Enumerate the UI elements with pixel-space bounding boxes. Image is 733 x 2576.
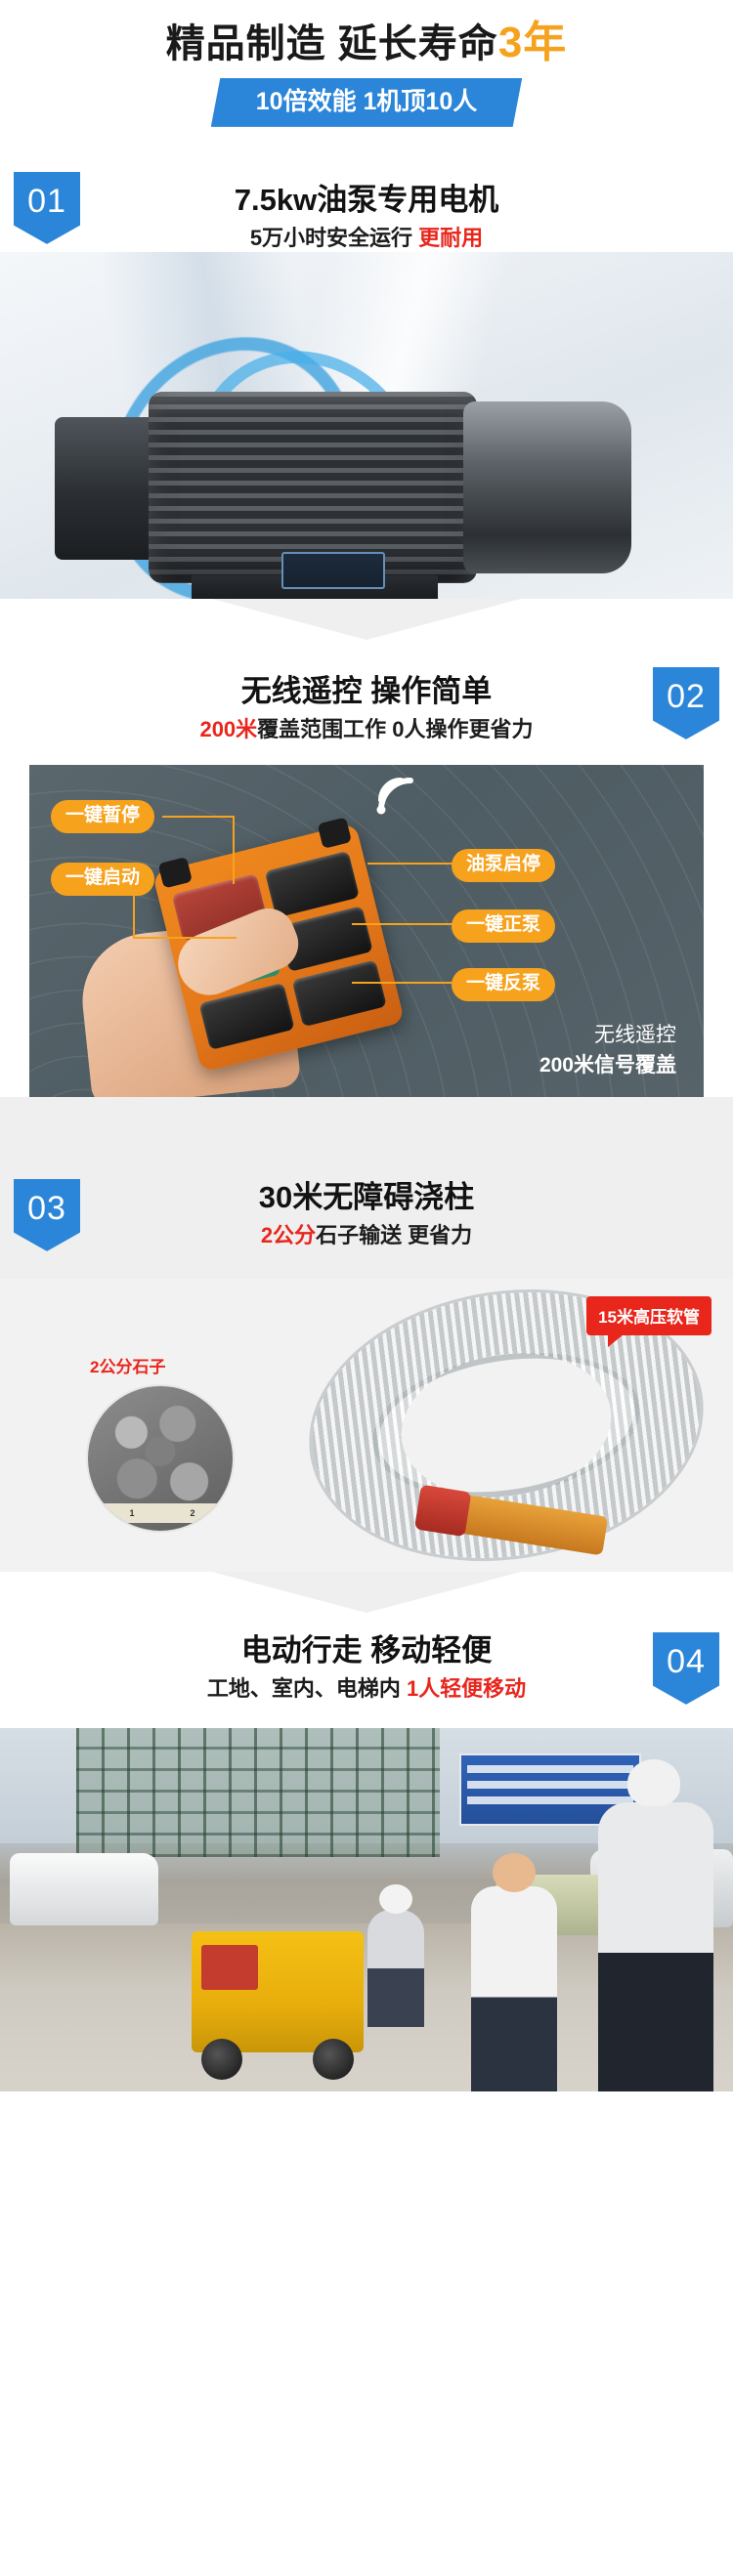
section-03: 03 30米无障碍浇柱 2公分石子输送 更省力 2公分石子 1 2 15米高压软…: [0, 1179, 733, 1572]
page-title-highlight: 3年: [498, 19, 567, 66]
remote-key-reverse-pump[interactable]: [291, 960, 387, 1028]
section-04-subtitle-main: 工地、室内、电梯内: [207, 1676, 407, 1701]
page-header: 精品制造 延长寿命3年 10倍效能 1机顶10人: [0, 0, 733, 127]
section-04: 04 电动行走 移动轻便 工地、室内、电梯内 1人轻便移动: [0, 1632, 733, 2091]
section-03-title: 30米无障碍浇柱: [0, 1179, 733, 1217]
motor-end-cap: [463, 401, 631, 573]
hose-length-tag: 15米高压软管: [586, 1296, 711, 1335]
site-scaffolding: [76, 1728, 440, 1857]
remote-caption-line2: 200米信号覆盖: [539, 1050, 676, 1081]
section-04-head: 04 电动行走 移动轻便 工地、室内、电梯内 1人轻便移动: [0, 1632, 733, 1728]
section-03-spacer: [0, 1140, 733, 1179]
ruler-mark-1: 1: [129, 1508, 134, 1518]
remote-screw-left-icon: [158, 857, 193, 888]
oil-pump-motor-photo: [0, 252, 733, 599]
section-divider-3: [0, 1572, 733, 1615]
wifi-signal-icon: [373, 773, 422, 816]
callout-start-leader: [133, 937, 237, 939]
page-title: 精品制造 延长寿命3年: [0, 18, 733, 68]
callout-pump-leader: [367, 863, 453, 865]
section-03-subtitle-main: 石子输送 更省力: [316, 1223, 472, 1247]
site-worker-foreground: [598, 1802, 713, 2091]
callout-pause-leader: [162, 816, 235, 818]
section-divider-2: [0, 1097, 733, 1140]
hose-and-gravel-photo: 2公分石子 1 2 15米高压软管: [0, 1279, 733, 1572]
callout-reverse-leader: [352, 982, 453, 984]
site-white-van: [10, 1853, 158, 1925]
callout-start: 一键启动: [51, 863, 154, 896]
section-01-subtitle-main: 5万小时安全运行: [250, 226, 418, 250]
gravel-sample-photo: 1 2: [86, 1384, 235, 1533]
section-01-title: 7.5kw油泵专用电机: [0, 176, 733, 220]
section-02-title: 无线遥控 操作简单: [0, 673, 733, 711]
callout-start-leader-v: [133, 880, 135, 939]
motor-illustration: [55, 392, 651, 583]
section-divider-1: [0, 599, 733, 642]
callout-pump-startstop: 油泵启停: [452, 849, 555, 882]
section-01-subtitle-red: 更耐用: [418, 226, 483, 250]
remote-key-pump-startstop[interactable]: [264, 851, 360, 918]
callout-reverse-pump: 一键反泵: [452, 968, 555, 1001]
section-02: 02 无线遥控 操作简单 200米覆盖范围工作 0人操作更省力: [0, 663, 733, 1097]
callout-forward-pump: 一键正泵: [452, 909, 555, 943]
section-03-subtitle: 2公分石子输送 更省力: [0, 1222, 733, 1250]
site-worker-walking: [471, 1886, 557, 2091]
section-02-head: 02 无线遥控 操作简单 200米覆盖范围工作 0人操作更省力: [0, 663, 733, 765]
gravel-ruler: 1 2: [102, 1503, 223, 1523]
motor-nameplate: [281, 552, 385, 589]
remote-screw-right-icon: [318, 817, 352, 848]
callout-pause-leader-v: [233, 816, 235, 884]
header-ribbon: 10倍效能 1机顶10人: [211, 78, 522, 127]
section-03-subtitle-red: 2公分: [261, 1223, 316, 1247]
ruler-mark-2: 2: [190, 1508, 194, 1518]
page-title-main: 精品制造 延长寿命: [166, 22, 498, 65]
gravel-label: 2公分石子: [90, 1353, 165, 1377]
machine-wheel-rear: [313, 2039, 354, 2080]
section-04-subtitle-red: 1人轻便移动: [407, 1676, 526, 1701]
section-02-subtitle-main: 覆盖范围工作 0人操作更省力: [257, 717, 533, 741]
header-ribbon-wrapper: 10倍效能 1机顶10人: [0, 78, 733, 127]
remote-caption-line1: 无线遥控: [539, 1020, 676, 1051]
section-04-subtitle: 工地、室内、电梯内 1人轻便移动: [0, 1675, 733, 1704]
section-04-title: 电动行走 移动轻便: [0, 1632, 733, 1670]
concrete-pump-machine: [192, 1931, 364, 2052]
section-01: 01 7.5kw油泵专用电机 5万小时安全运行 更耐用: [0, 162, 733, 599]
remote-caption: 无线遥控 200米信号覆盖: [539, 1020, 676, 1081]
wireless-remote-photo: 一键暂停 一键启动 油泵启停 一键正泵 一键反泵 无线遥控 200米信号覆盖: [29, 765, 704, 1097]
section-01-subtitle: 5万小时安全运行 更耐用: [0, 225, 733, 253]
machine-wheel-front: [201, 2039, 242, 2080]
section-02-subtitle-red: 200米: [199, 717, 257, 741]
callout-forward-leader: [352, 923, 453, 925]
construction-site-photo: [0, 1728, 733, 2091]
section-03-head: 03 30米无障碍浇柱 2公分石子输送 更省力: [0, 1179, 733, 1279]
section-02-subtitle: 200米覆盖范围工作 0人操作更省力: [0, 716, 733, 744]
callout-pause: 一键暂停: [51, 800, 154, 833]
site-worker-operating: [367, 1910, 424, 2027]
